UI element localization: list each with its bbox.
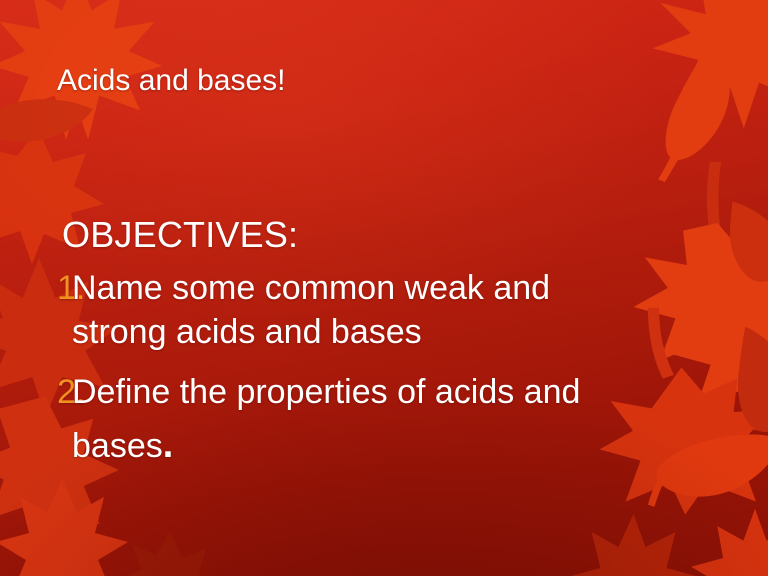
presentation-slide: Acids and bases! OBJECTIVES: 1. Name som… xyxy=(0,0,768,576)
leaf-icon xyxy=(110,528,230,576)
maple-leaf-icon xyxy=(556,505,711,576)
objectives-list: 1. Name some common weak and strong acid… xyxy=(0,267,768,472)
list-marker: 1. xyxy=(0,267,72,311)
objectives-heading: OBJECTIVES: xyxy=(62,214,768,255)
slide-body: OBJECTIVES: 1. Name some common weak and… xyxy=(0,214,768,487)
maple-leaf-icon xyxy=(680,500,768,576)
list-item: 1. Name some common weak and strong acid… xyxy=(0,267,768,354)
maple-leaf-icon xyxy=(640,0,768,132)
list-item-text: Name some common weak and strong acids a… xyxy=(72,267,642,354)
list-item-text: Define the properties of acids and bases… xyxy=(72,368,642,472)
slide-title: Acids and bases! xyxy=(57,63,285,99)
list-item-text-main: Define the properties of acids and bases xyxy=(72,373,580,464)
list-marker: 2. xyxy=(0,368,72,417)
list-item-text-period: . xyxy=(163,424,174,466)
list-item: 2. Define the properties of acids and ba… xyxy=(0,368,768,472)
leaf-icon xyxy=(640,32,755,182)
